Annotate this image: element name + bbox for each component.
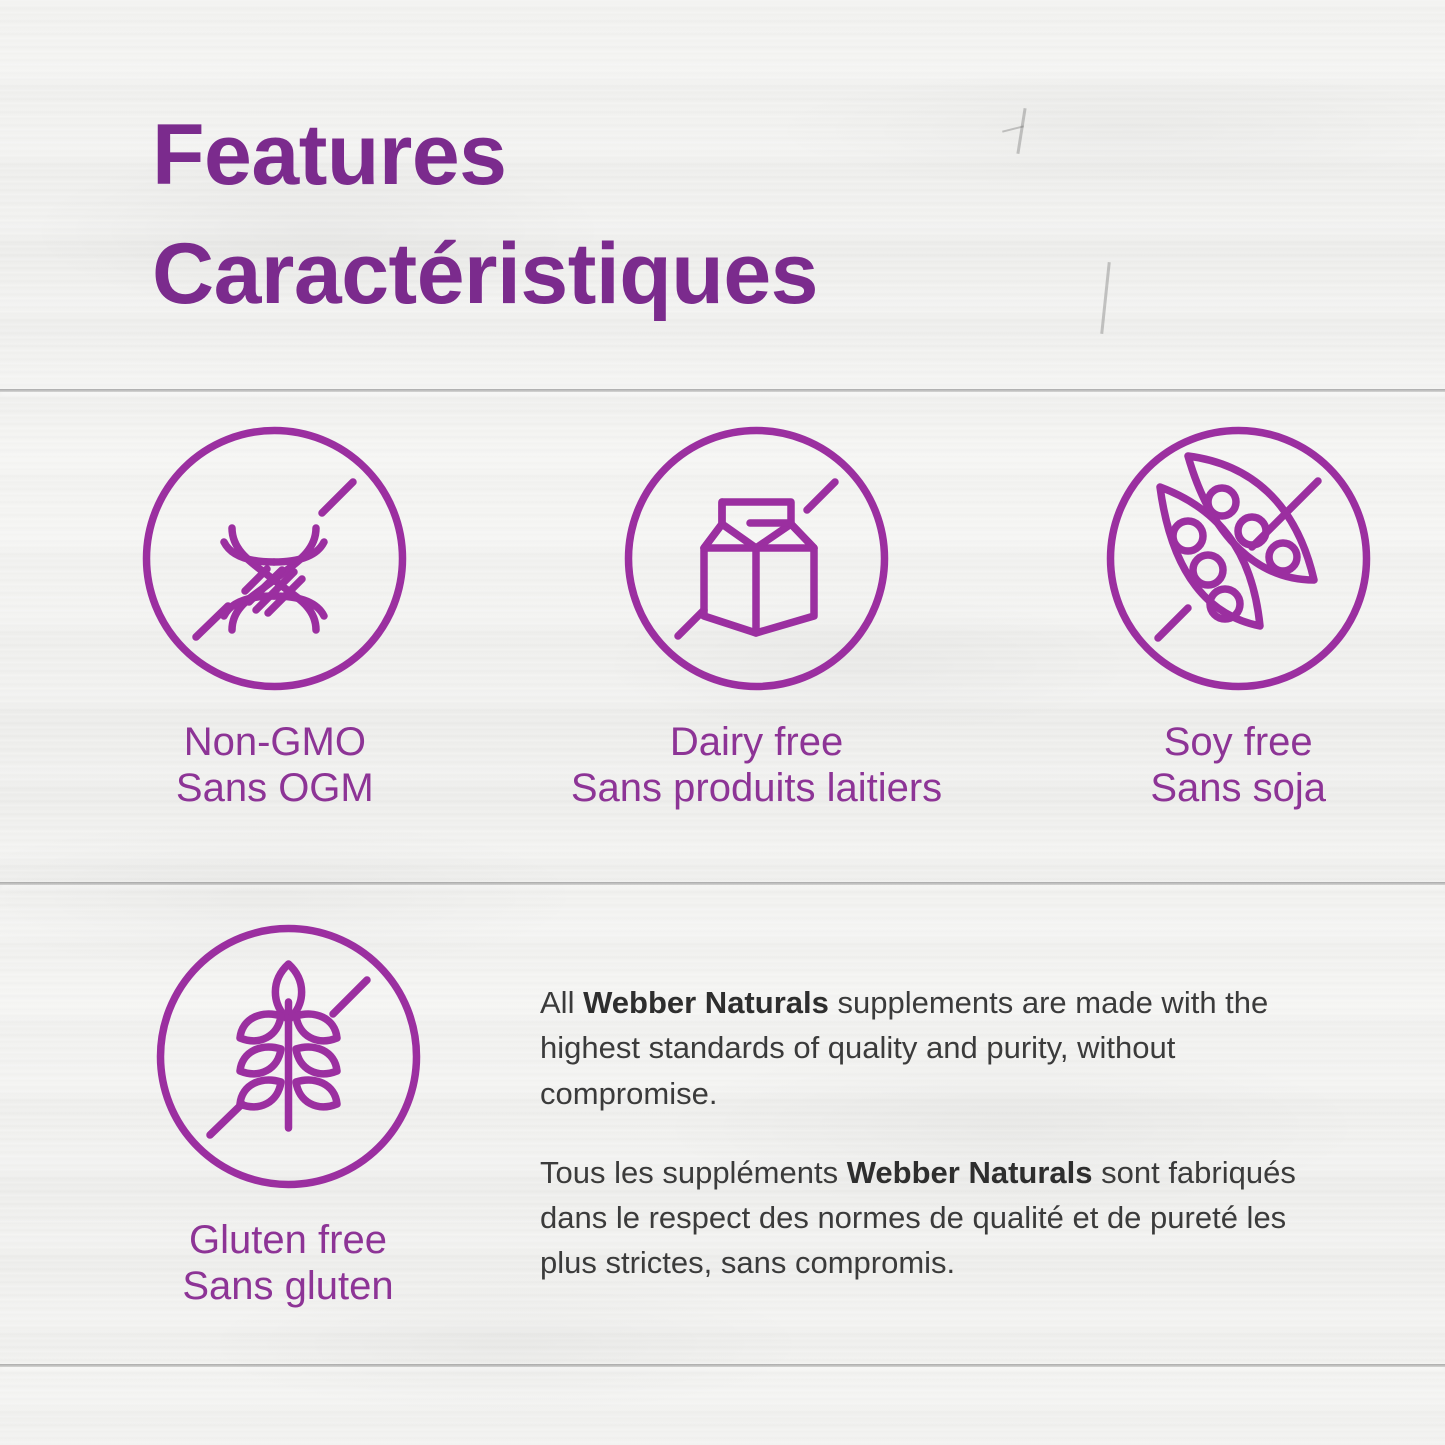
plank-seam-top [0,389,1445,392]
feature-label-soy-free: Soy free Sans soja [1150,719,1326,812]
features-panel: Features Caractéristiques [0,0,1445,1445]
copy-en-before: All [540,985,583,1020]
brand-copy: All Webber Naturals supplements are made… [540,918,1340,1286]
feature-label-fr: Sans produits laitiers [571,765,942,811]
page-title: Features Caractéristiques [152,96,1252,333]
no-gluten-wheat-icon [150,918,427,1195]
feature-label-en: Soy free [1164,720,1313,764]
feature-dairy-free: Dairy free Sans produits laitiers [550,420,964,812]
no-gmo-dna-icon [136,420,413,697]
copy-en-brand: Webber Naturals [583,985,829,1020]
feature-gluten-free: Gluten free Sans gluten [68,918,508,1310]
plank-seam-middle [0,882,1445,885]
feature-label-fr: Sans OGM [176,765,374,811]
feature-non-gmo: Non-GMO Sans OGM [68,420,482,812]
brand-copy-en: All Webber Naturals supplements are made… [540,980,1340,1116]
feature-label-dairy-free: Dairy free Sans produits laitiers [571,719,942,812]
bottom-section: Gluten free Sans gluten All Webber Natur… [0,918,1445,1310]
feature-label-en: Non-GMO [184,720,366,764]
copy-fr-brand: Webber Naturals [847,1155,1093,1190]
plank-seam-bottom [0,1364,1445,1367]
feature-label-gluten-free: Gluten free Sans gluten [182,1217,393,1310]
feature-row: Non-GMO Sans OGM [0,420,1445,812]
feature-label-en: Dairy free [670,720,843,764]
title-line-en: Features [152,96,1252,215]
feature-label-fr: Sans soja [1150,765,1326,811]
copy-fr-before: Tous les suppléments [540,1155,847,1190]
feature-label-en: Gluten free [189,1218,387,1262]
feature-label-non-gmo: Non-GMO Sans OGM [176,719,374,812]
brand-copy-fr: Tous les suppléments Webber Naturals son… [540,1150,1340,1286]
feature-soy-free: Soy free Sans soja [1031,420,1445,812]
no-dairy-milk-carton-icon [618,420,895,697]
no-soy-pea-pod-icon [1100,420,1377,697]
feature-label-fr: Sans gluten [182,1263,393,1309]
title-line-fr: Caractéristiques [152,215,1252,334]
